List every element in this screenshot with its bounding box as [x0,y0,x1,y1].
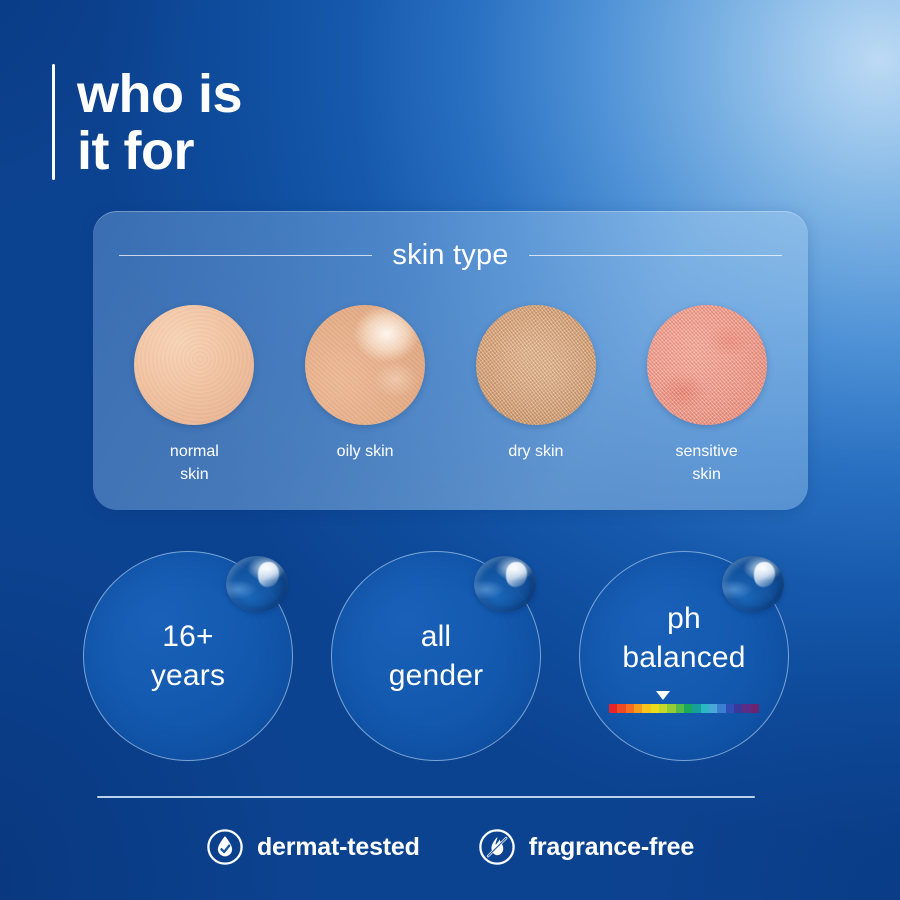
gender-badge-label: all gender [389,617,484,695]
ph-segment-5 [651,704,659,713]
oily-skin-swatch [305,305,425,425]
attribute-badges: 16+ years all gender ph balanced [83,551,817,761]
skin-item-dry[interactable]: dry skin [461,305,611,486]
ph-segment-15 [734,704,742,713]
ph-badge-label: ph balanced [622,599,745,677]
ph-segment-0 [609,704,617,713]
title-accent-bar [52,64,55,180]
ph-segment-3 [634,704,642,713]
footer-claims: dermat-tested fragrance-free [0,828,900,866]
ph-segment-16 [742,704,750,713]
ph-segment-17 [751,704,759,713]
water-droplet-icon [474,556,536,612]
ph-segment-2 [626,704,634,713]
age-badge[interactable]: 16+ years [83,551,293,761]
ph-segment-6 [659,704,667,713]
skin-item-sensitive[interactable]: sensitive skin [632,305,782,486]
sensitive-skin-label: sensitive skin [676,440,738,486]
normal-skin-swatch [134,305,254,425]
claim-fragrance-free[interactable]: fragrance-free [478,828,694,866]
ph-segment-12 [709,704,717,713]
ph-marker-triangle-icon [656,691,670,700]
water-droplet-icon [722,556,784,612]
ph-segment-11 [701,704,709,713]
ph-balanced-badge[interactable]: ph balanced [579,551,789,761]
age-badge-label: 16+ years [151,617,225,695]
skin-type-panel: skin type normal skin oily skin dry skin… [93,211,808,510]
ph-segment-14 [726,704,734,713]
ph-segment-1 [617,704,625,713]
claim-dermat-tested-label: dermat-tested [257,833,420,862]
water-droplet-icon [226,556,288,612]
ph-scale [609,691,759,713]
header-rule-left [119,255,372,256]
header-rule-right [529,255,782,256]
ph-segment-4 [642,704,650,713]
infographic-canvas: who is it for skin type normal skin oily… [0,0,900,900]
claim-fragrance-free-label: fragrance-free [529,833,694,862]
ph-segment-13 [717,704,725,713]
ph-gradient-bar [609,704,759,713]
oily-skin-label: oily skin [337,440,394,463]
ph-segment-7 [667,704,675,713]
ph-segment-10 [692,704,700,713]
skin-type-title: skin type [392,239,508,272]
no-fragrance-icon [478,828,516,866]
ph-segment-8 [676,704,684,713]
skin-type-header: skin type [119,239,782,272]
page-title: who is it for [77,64,242,180]
skin-type-list: normal skin oily skin dry skin sensitive… [109,305,792,486]
footer-divider [97,796,755,798]
page-title-block: who is it for [52,64,242,180]
ph-segment-9 [684,704,692,713]
droplet-check-icon [206,828,244,866]
claim-dermat-tested[interactable]: dermat-tested [206,828,420,866]
dry-skin-swatch [476,305,596,425]
sensitive-skin-swatch [647,305,767,425]
dry-skin-label: dry skin [508,440,563,463]
skin-item-normal[interactable]: normal skin [119,305,269,486]
skin-item-oily[interactable]: oily skin [290,305,440,486]
gender-badge[interactable]: all gender [331,551,541,761]
normal-skin-label: normal skin [170,440,219,486]
